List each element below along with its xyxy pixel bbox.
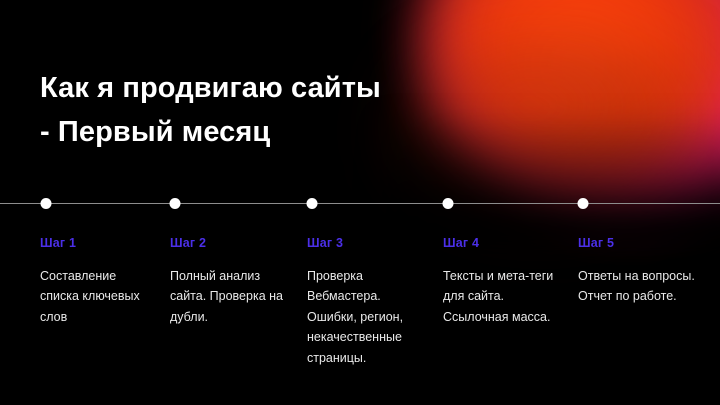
step-label: Шаг 1 bbox=[40, 236, 158, 250]
timeline bbox=[0, 198, 720, 210]
step-description: Ответы на вопросы. Отчет по работе. bbox=[578, 266, 696, 307]
step-item-5: Шаг 5 Ответы на вопросы. Отчет по работе… bbox=[578, 236, 696, 307]
step-description: Составление списка ключевых слов bbox=[40, 266, 158, 327]
timeline-line bbox=[0, 203, 720, 204]
step-description: Полный анализ сайта. Проверка на дубли. bbox=[170, 266, 288, 327]
step-item-4: Шаг 4 Тексты и мета-теги для сайта. Ссыл… bbox=[443, 236, 561, 327]
timeline-dot-4 bbox=[443, 198, 454, 209]
gradient-fade-overlay bbox=[380, 110, 720, 250]
orange-glow-blob bbox=[430, 0, 720, 180]
timeline-dot-1 bbox=[41, 198, 52, 209]
step-item-2: Шаг 2 Полный анализ сайта. Проверка на д… bbox=[170, 236, 288, 327]
step-item-1: Шаг 1 Составление списка ключевых слов bbox=[40, 236, 158, 327]
slide-title: Как я продвигаю сайты - Первый месяц bbox=[40, 66, 381, 154]
timeline-dot-2 bbox=[170, 198, 181, 209]
step-description: Тексты и мета-теги для сайта. Ссылочная … bbox=[443, 266, 561, 327]
step-label: Шаг 2 bbox=[170, 236, 288, 250]
step-label: Шаг 4 bbox=[443, 236, 561, 250]
step-description: Проверка Вебмастера. Ошибки, регион, нек… bbox=[307, 266, 425, 368]
timeline-dot-3 bbox=[307, 198, 318, 209]
presentation-slide: Как я продвигаю сайты - Первый месяц Шаг… bbox=[0, 0, 720, 405]
timeline-dot-5 bbox=[578, 198, 589, 209]
pink-glow-blob bbox=[420, 0, 720, 210]
step-item-3: Шаг 3 Проверка Вебмастера. Ошибки, регио… bbox=[307, 236, 425, 368]
step-label: Шаг 3 bbox=[307, 236, 425, 250]
step-label: Шаг 5 bbox=[578, 236, 696, 250]
